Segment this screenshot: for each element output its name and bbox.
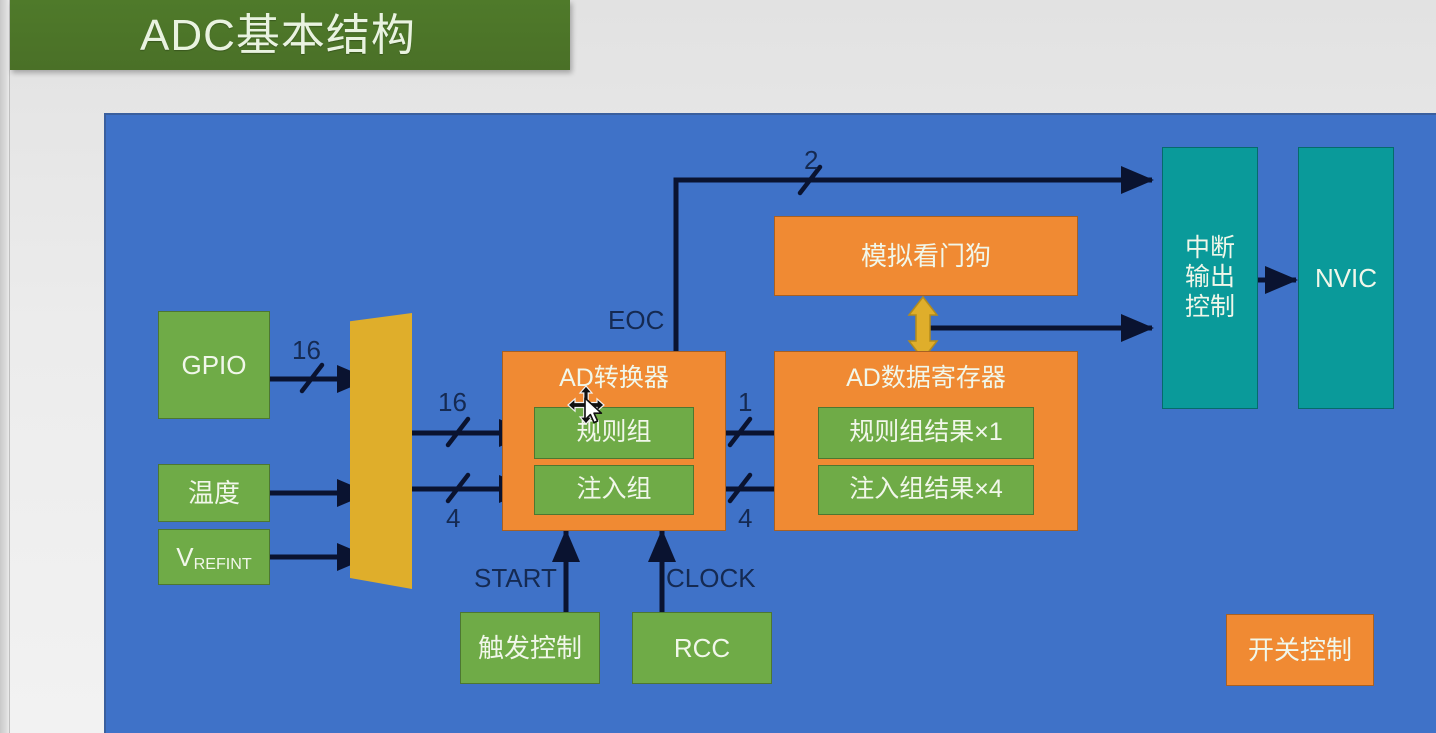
node-regular-group-label: 规则组	[576, 418, 651, 448]
left-chrome-divider	[9, 0, 10, 733]
node-temperature[interactable]: 温度	[158, 464, 270, 522]
node-ad-converter-label: AD转换器	[559, 364, 669, 394]
node-gpio-label: GPIO	[181, 350, 246, 381]
diagram-canvas: GPIO 温度 VREFINT AD转换器 规则组 注入组 模拟看门狗 AD数据…	[104, 113, 1436, 733]
label-mux-injected-bus-width: 4	[446, 505, 460, 531]
label-clock: CLOCK	[666, 565, 756, 591]
node-interrupt-output-control-label: 中断 输出 控制	[1185, 234, 1235, 323]
node-vrefint[interactable]: VREFINT	[158, 529, 270, 585]
page-title: ADC基本结构	[140, 8, 416, 64]
node-trigger-control-label: 触发控制	[478, 633, 582, 664]
watchdog-bidirectional-arrow	[908, 297, 938, 359]
slide-title-bar: ADC基本结构	[10, 0, 570, 70]
node-regular-group[interactable]: 规则组	[534, 407, 694, 459]
node-injected-group-label: 注入组	[576, 475, 651, 505]
label-eoc-bus-width: 2	[804, 147, 818, 173]
node-analog-watchdog[interactable]: 模拟看门狗	[774, 216, 1078, 296]
node-injected-group[interactable]: 注入组	[534, 465, 694, 515]
node-temperature-label: 温度	[188, 478, 240, 509]
node-nvic-label: NVIC	[1315, 263, 1377, 294]
node-regular-result[interactable]: 规则组结果×1	[818, 407, 1034, 459]
node-gpio[interactable]: GPIO	[158, 311, 270, 419]
node-analog-multiplexer[interactable]	[350, 313, 412, 589]
node-rcc-label: RCC	[674, 633, 730, 664]
node-trigger-control[interactable]: 触发控制	[460, 612, 600, 684]
node-analog-watchdog-label: 模拟看门狗	[861, 241, 991, 272]
node-regular-result-label: 规则组结果×1	[849, 418, 1003, 448]
node-interrupt-output-control[interactable]: 中断 输出 控制	[1162, 147, 1258, 409]
node-rcc[interactable]: RCC	[632, 612, 772, 684]
label-mux-regular-bus-width: 16	[438, 389, 467, 415]
label-gpio-bus-width: 16	[292, 337, 321, 363]
node-ad-data-register-label: AD数据寄存器	[846, 364, 1006, 394]
label-start: START	[474, 565, 557, 591]
node-injected-result[interactable]: 注入组结果×4	[818, 465, 1034, 515]
node-injected-result-label: 注入组结果×4	[849, 475, 1003, 505]
node-switch-control[interactable]: 开关控制	[1226, 614, 1374, 686]
node-vrefint-label: VREFINT	[176, 542, 252, 573]
presentation-screen: ADC基本结构	[0, 0, 1436, 733]
node-switch-control-label: 开关控制	[1248, 635, 1352, 666]
node-nvic[interactable]: NVIC	[1298, 147, 1394, 409]
label-eoc: EOC	[608, 307, 664, 333]
label-injected-result-bus-width: 4	[738, 505, 752, 531]
label-regular-result-bus-width: 1	[738, 389, 752, 415]
